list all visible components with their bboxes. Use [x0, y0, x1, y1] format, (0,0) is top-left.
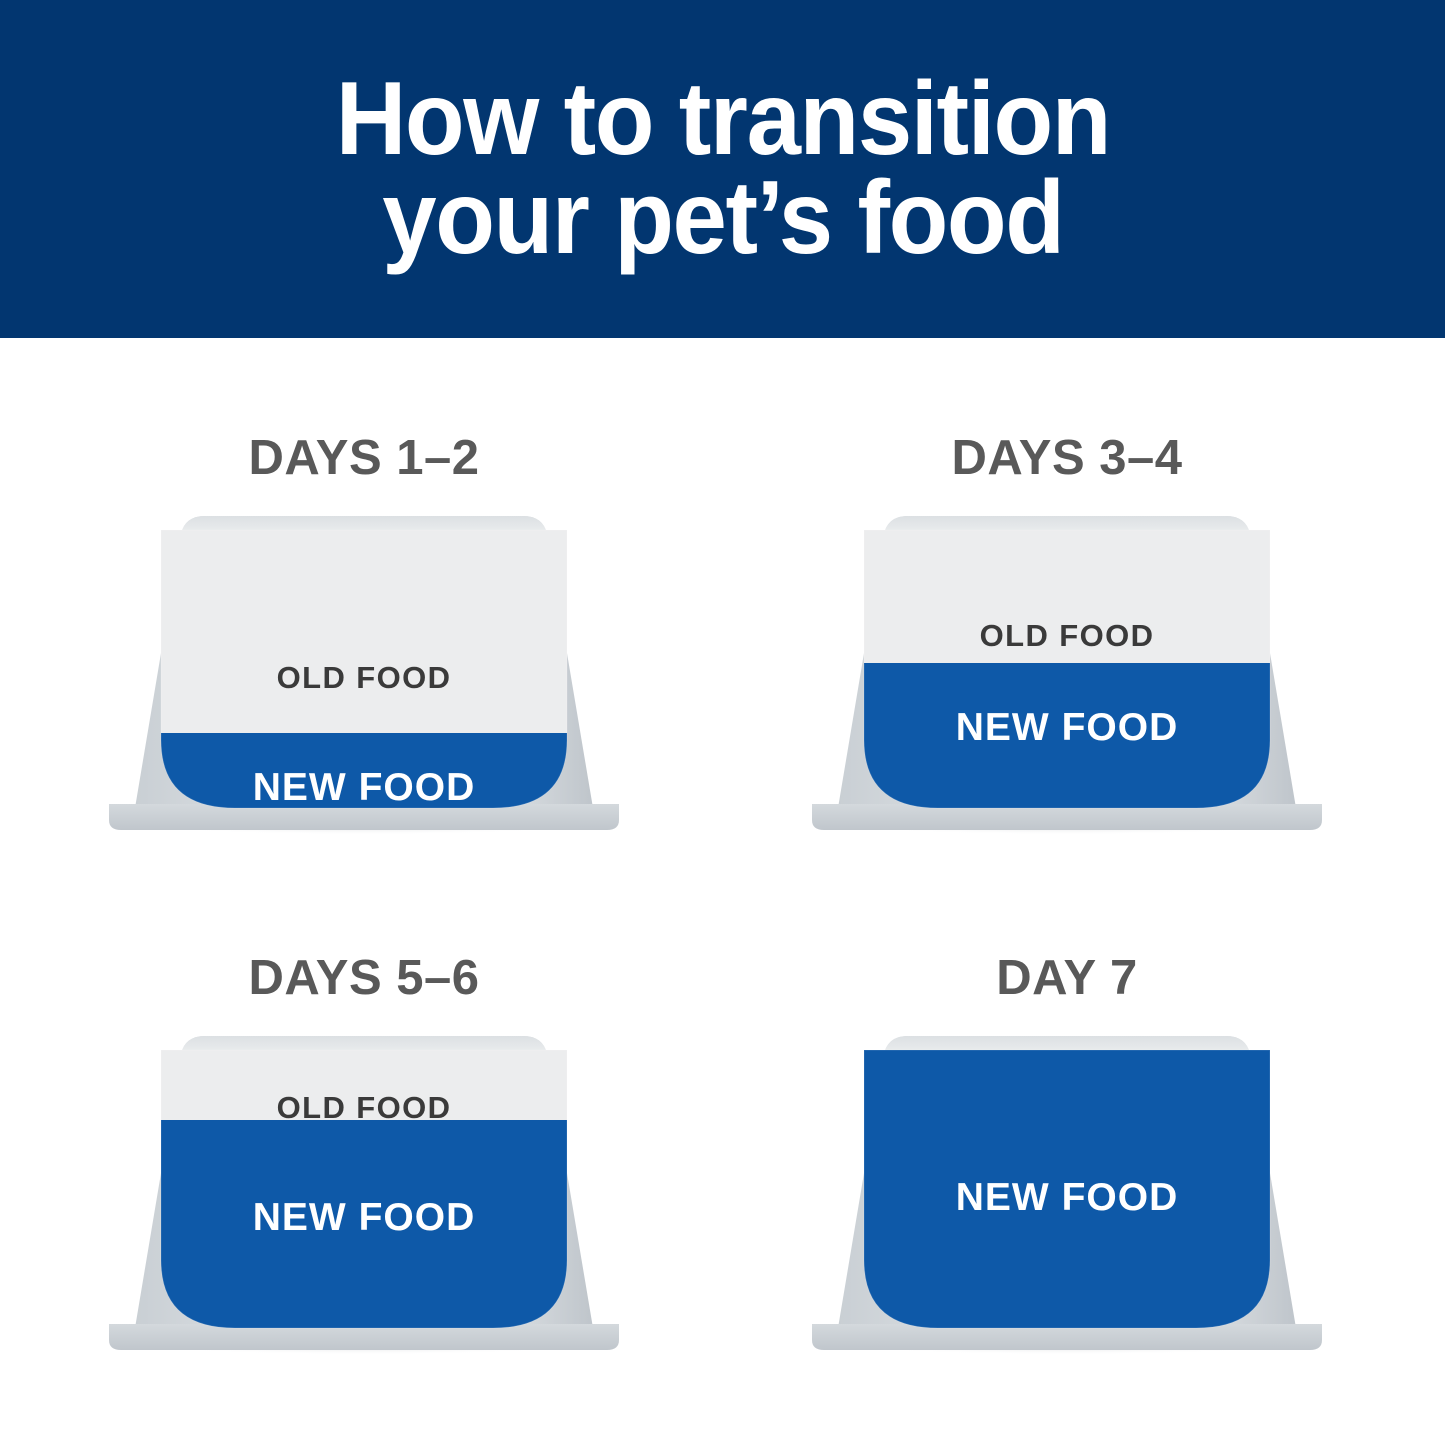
- step-title: DAYS 1–2: [14, 430, 714, 486]
- bowl-graphic-days-1-2: OLD FOOD NEW FOOD: [69, 508, 659, 838]
- bowl-illustration: [69, 1028, 659, 1358]
- infographic-page: How to transition your pet’s food DAYS 1…: [0, 0, 1445, 1445]
- bowl-graphic-days-5-6: OLD FOOD NEW FOOD: [69, 1028, 659, 1358]
- bowl-graphic-day-7: NEW FOOD: [772, 1028, 1362, 1358]
- step-card-day-7: DAY 7: [717, 900, 1417, 1420]
- header-band: How to transition your pet’s food: [0, 0, 1445, 338]
- steps-grid: DAYS 1–2: [0, 338, 1445, 1445]
- step-card-days-3-4: DAYS 3–4: [717, 380, 1417, 900]
- bowl-graphic-days-3-4: OLD FOOD NEW FOOD: [772, 508, 1362, 838]
- step-card-days-5-6: DAYS 5–6: [14, 900, 714, 1420]
- bowl-illustration: [772, 508, 1362, 838]
- bowl-illustration: [69, 508, 659, 838]
- bowl-illustration: [772, 1028, 1362, 1358]
- step-card-days-1-2: DAYS 1–2: [14, 380, 714, 900]
- step-title: DAY 7: [717, 950, 1417, 1006]
- page-title: How to transition your pet’s food: [279, 70, 1166, 268]
- step-title: DAYS 3–4: [717, 430, 1417, 486]
- step-title: DAYS 5–6: [14, 950, 714, 1006]
